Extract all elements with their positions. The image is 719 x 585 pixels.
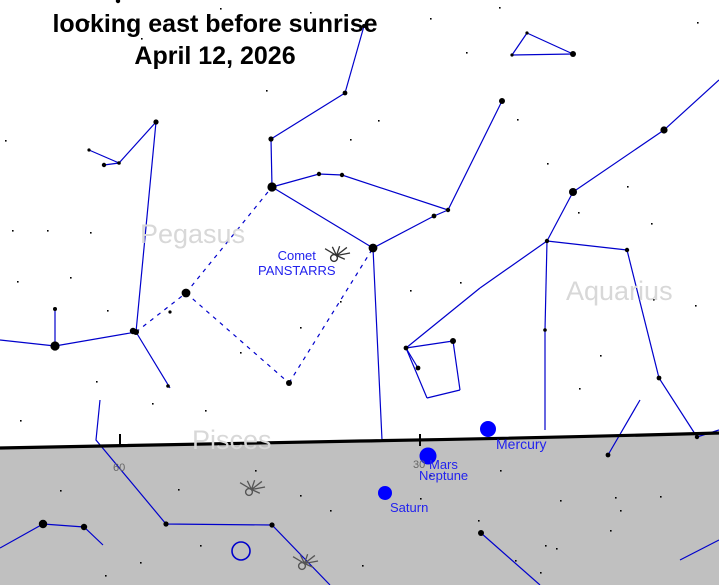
faint-star	[478, 520, 480, 522]
faint-star	[695, 305, 697, 307]
faint-star	[579, 388, 581, 390]
star	[446, 208, 450, 212]
faint-star	[615, 497, 617, 499]
sky-canvas	[0, 0, 719, 585]
faint-star	[430, 475, 432, 477]
faint-star	[178, 489, 180, 491]
star	[102, 163, 106, 167]
star	[525, 31, 528, 34]
faint-star	[107, 310, 109, 312]
faint-star	[266, 90, 268, 92]
faint-star	[220, 8, 222, 10]
star	[432, 214, 437, 219]
faint-star	[420, 498, 422, 500]
faint-star	[600, 355, 602, 357]
star	[117, 161, 121, 165]
star	[499, 98, 505, 104]
faint-star	[627, 186, 629, 188]
star	[570, 51, 576, 57]
faint-star	[410, 290, 412, 292]
faint-star	[140, 562, 142, 564]
faint-star	[255, 470, 257, 472]
faint-star	[610, 530, 612, 532]
faint-star	[653, 299, 655, 301]
star	[268, 136, 273, 141]
star	[478, 530, 484, 536]
planet-marker-mars[interactable]	[420, 448, 437, 465]
faint-star	[152, 403, 154, 405]
star	[450, 338, 456, 344]
faint-star	[205, 410, 207, 412]
faint-star	[697, 22, 699, 24]
faint-star	[20, 420, 22, 422]
star	[317, 172, 321, 176]
star	[695, 435, 699, 439]
planet-marker-saturn[interactable]	[378, 486, 392, 500]
star	[267, 182, 276, 191]
star	[369, 244, 378, 253]
faint-star	[515, 560, 517, 562]
star	[362, 24, 366, 28]
faint-star	[310, 12, 312, 14]
ground-fill	[0, 433, 719, 585]
faint-star	[340, 301, 342, 303]
star	[416, 366, 421, 371]
star	[166, 384, 170, 388]
star	[39, 520, 47, 528]
star	[343, 91, 348, 96]
faint-star	[578, 212, 580, 214]
star	[182, 289, 191, 298]
sky-chart: looking east before sunrise April 12, 20…	[0, 0, 719, 585]
faint-star	[60, 490, 62, 492]
faint-star	[12, 230, 14, 232]
faint-star	[105, 575, 107, 577]
star	[50, 341, 59, 350]
faint-star	[300, 327, 302, 329]
faint-star	[500, 470, 502, 472]
faint-star	[47, 230, 49, 232]
faint-star	[560, 500, 562, 502]
faint-star	[257, 50, 259, 52]
star	[286, 380, 292, 386]
faint-star	[200, 545, 202, 547]
star	[340, 173, 344, 177]
star	[569, 188, 577, 196]
star	[53, 307, 57, 311]
faint-star	[460, 282, 462, 284]
faint-star	[499, 7, 501, 9]
ground-layer	[0, 433, 719, 585]
faint-star	[96, 381, 98, 383]
faint-star	[430, 18, 432, 20]
faint-star	[240, 352, 242, 354]
star	[625, 248, 629, 252]
faint-star	[378, 120, 380, 122]
faint-star	[660, 496, 662, 498]
faint-star	[651, 223, 653, 225]
star	[269, 522, 274, 527]
faint-star	[545, 545, 547, 547]
star	[543, 328, 547, 332]
faint-star	[466, 52, 468, 54]
faint-star	[90, 232, 92, 234]
faint-star	[300, 495, 302, 497]
star	[404, 346, 409, 351]
faint-star	[330, 510, 332, 512]
faint-star	[517, 119, 519, 121]
star	[660, 126, 667, 133]
star	[153, 119, 158, 124]
faint-star	[70, 277, 72, 279]
star	[545, 239, 549, 243]
faint-star	[547, 163, 549, 165]
star	[81, 524, 87, 530]
star	[130, 328, 136, 334]
planet-marker-mercury[interactable]	[480, 421, 496, 437]
faint-star	[5, 140, 7, 142]
faint-star	[141, 38, 143, 40]
faint-star	[17, 281, 19, 283]
star	[168, 310, 171, 313]
faint-star	[620, 510, 622, 512]
faint-star	[556, 548, 558, 550]
star	[163, 521, 168, 526]
faint-star	[362, 565, 364, 567]
faint-star	[350, 139, 352, 141]
star	[657, 376, 662, 381]
star	[606, 453, 611, 458]
faint-star	[540, 572, 542, 574]
star	[510, 53, 513, 56]
faint-star	[88, 21, 90, 23]
star	[87, 148, 90, 151]
